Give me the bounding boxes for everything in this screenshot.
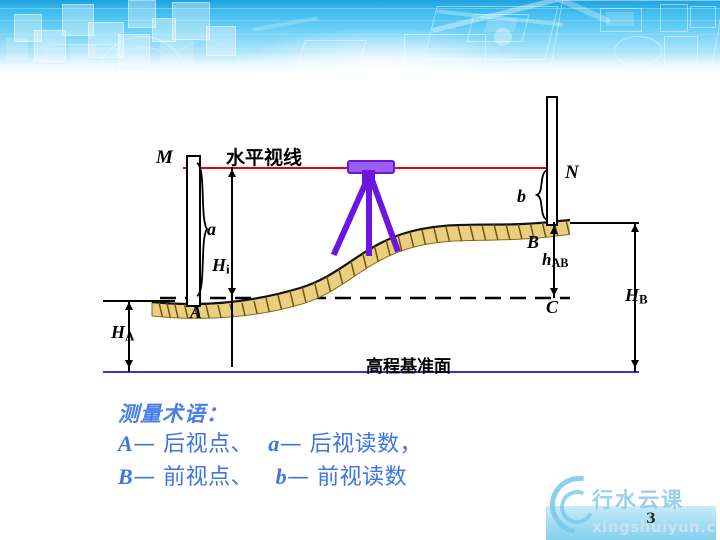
reading-b-label: b: [517, 186, 526, 207]
point-b-label: B: [527, 232, 539, 253]
datum-label: 高程基准面: [366, 352, 451, 377]
staff-m-label: M: [156, 147, 173, 169]
page-number: 3: [646, 511, 656, 527]
terminology-heading: 测量术语：: [118, 400, 638, 428]
height-b-symbol: H: [625, 285, 639, 305]
reading-a-label: a: [207, 219, 216, 240]
point-a-label: A: [190, 302, 202, 323]
term-symbol-b-reading: b: [276, 464, 288, 489]
instrument-height-label: Hi: [212, 255, 230, 277]
blueprint-decor: [690, 6, 716, 28]
height-b-label: HB: [625, 285, 648, 307]
slide-canvas: 水平视线 高程基准面 M N a b A B C Hi HA HB hAB 测量…: [0, 0, 720, 540]
term-text-a: — 后视点、: [133, 432, 253, 457]
square-decor: [172, 2, 210, 40]
point-c-label: C: [546, 297, 558, 318]
header-banner: [0, 0, 720, 78]
compass-hinge-icon: [494, 28, 512, 46]
instrument-height-guide: [231, 167, 233, 367]
term-symbol-a: A: [118, 431, 133, 456]
height-difference-subscript: AB: [551, 256, 568, 270]
watermark: 行水云课 xingshuiyun.com: [546, 472, 716, 540]
term-text-b: — 前视点、: [133, 465, 253, 490]
sight-line-label: 水平视线: [226, 143, 302, 170]
height-difference-label: hAB: [542, 250, 568, 271]
arrowhead-up: [550, 226, 558, 234]
height-a-symbol: H: [111, 322, 125, 342]
staff-n-label: N: [565, 162, 579, 184]
height-a-subscript: A: [125, 328, 134, 343]
arrowhead-up: [125, 302, 133, 310]
term-text-a-reading: — 后视读数，: [280, 432, 423, 457]
arrowhead-down: [125, 360, 133, 368]
reading-b-brace: [532, 168, 550, 224]
banner-fade: [0, 52, 720, 78]
height-a-label: HA: [111, 322, 134, 344]
terminology-line-1: A— 后视点、 a— 后视读数，: [118, 428, 638, 460]
arrowhead-up: [228, 169, 236, 177]
blueprint-decor: [660, 4, 688, 32]
instrument-height-subscript: i: [226, 261, 230, 276]
height-b-subscript: B: [639, 291, 648, 306]
term-text-b-reading: — 前视读数: [287, 465, 407, 490]
instrument-height-symbol: H: [212, 255, 226, 275]
watermark-cn-text: 行水云课: [592, 484, 684, 514]
term-symbol-a-reading: a: [268, 431, 280, 456]
arrowhead-down: [228, 288, 236, 296]
term-symbol-b: B: [118, 464, 133, 489]
arrowhead-down: [631, 360, 639, 368]
arrowhead-down: [550, 288, 558, 296]
arrowhead-up: [631, 224, 639, 232]
tripod-leg-center: [366, 180, 372, 256]
